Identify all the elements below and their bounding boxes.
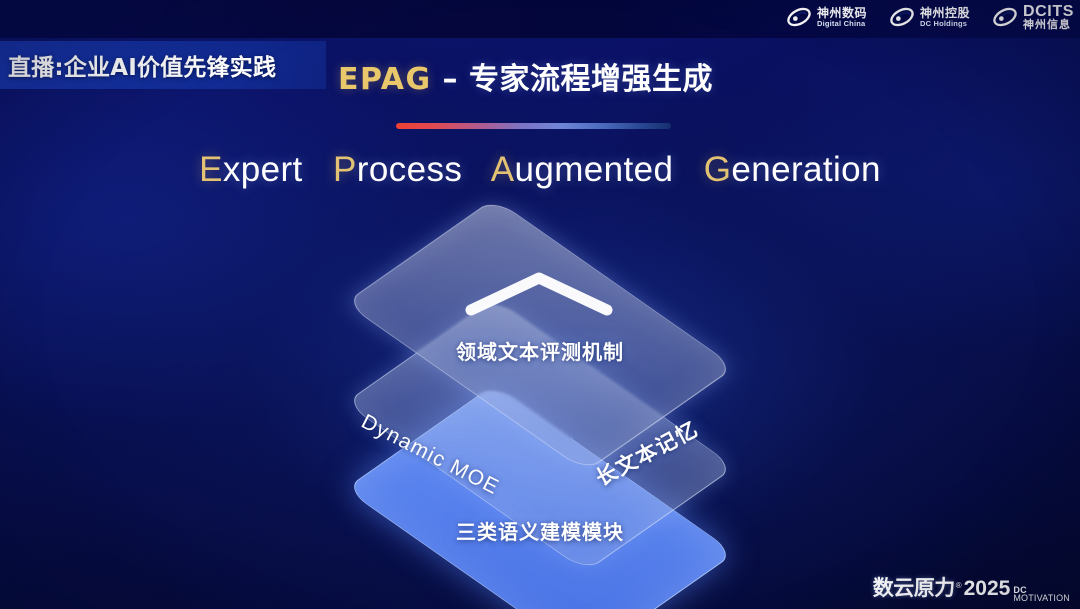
headline-acronym: EPAG — [338, 62, 432, 97]
partner-label: 神州数码 Digital China — [817, 7, 867, 27]
diagram-label-bottom: 三类语义建模模块 — [290, 516, 790, 545]
layered-architecture-diagram: 领域文本评测机制 Dynamic MOE 长文本记忆 三类语义建模模块 — [290, 228, 790, 568]
brand-motivation-label: MOTIVATION — [1013, 594, 1070, 603]
subtitle-space-3 — [683, 150, 693, 189]
presentation-slide: 数云原力 ® 2025 DC MOTIVATION 神州数码 Digital C… — [0, 0, 1080, 609]
diagram-label-top: 领域文本评测机制 — [290, 336, 790, 365]
slide-headline: EPAG – 专家流程增强生成 — [338, 54, 713, 98]
swirl-logo-icon — [889, 4, 915, 30]
brand-year: 2025 — [964, 578, 1011, 599]
live-broadcast-banner: 直播:企业AI价值先锋实践 — [0, 41, 326, 89]
registered-trademark-icon: ® — [956, 581, 962, 590]
chevron-up-icon — [463, 270, 615, 316]
partner-english-name: DC Holdings — [920, 20, 970, 28]
partner-logo-digital-china: 神州数码 Digital China — [786, 4, 867, 30]
headline-chinese: 专家流程增强生成 — [469, 62, 713, 97]
subtitle-rest-generation: eneration — [731, 150, 881, 189]
partner-logo-group: 神州数码 Digital China 神州控股 DC Holdings — [786, 4, 1074, 31]
partner-logo-dcits: DCITS 神州信息 — [992, 4, 1074, 31]
live-broadcast-text: 直播:企业AI价值先锋实践 — [8, 48, 276, 82]
subtitle-initial-p: P — [333, 150, 357, 189]
partner-english-name: Digital China — [817, 20, 867, 28]
subtitle-space-1 — [313, 150, 323, 189]
subtitle-word-expert: Expert — [199, 150, 303, 189]
subtitle-word-process: Process — [333, 150, 462, 189]
subtitle-initial-g: G — [704, 150, 732, 189]
partner-english-name: DCITS — [1023, 4, 1074, 19]
swirl-logo-icon — [786, 4, 812, 30]
partner-logo-dc-holdings: 神州控股 DC Holdings — [889, 4, 970, 30]
partner-label: 神州控股 DC Holdings — [920, 7, 970, 27]
conference-brand-logo-bottom: 数云原力 ® 2025 DC MOTIVATION — [873, 578, 1070, 605]
swirl-logo-icon — [992, 4, 1018, 30]
partner-label: DCITS 神州信息 — [1023, 4, 1074, 31]
subtitle-rest-augmented: ugmented — [514, 150, 673, 189]
slide-subtitle: Expert Process Augmented Generation — [0, 150, 1080, 190]
brand-dc-motivation: DC MOTIVATION — [1013, 586, 1070, 603]
subtitle-word-augmented: Augmented — [491, 150, 674, 189]
gradient-divider — [396, 123, 671, 129]
partner-chinese-name: 神州数码 — [817, 7, 867, 20]
brand-chinese-name: 数云原力 — [873, 578, 955, 599]
partner-chinese-name: 神州控股 — [920, 7, 970, 20]
subtitle-word-generation: Generation — [704, 150, 881, 189]
subtitle-rest-process: rocess — [357, 150, 463, 189]
subtitle-rest-expert: xpert — [223, 150, 303, 189]
subtitle-space-2 — [472, 150, 482, 189]
subtitle-initial-e: E — [199, 150, 223, 189]
headline-separator: – — [432, 62, 469, 97]
subtitle-initial-a: A — [491, 150, 515, 189]
partner-chinese-name: 神州信息 — [1023, 19, 1074, 31]
